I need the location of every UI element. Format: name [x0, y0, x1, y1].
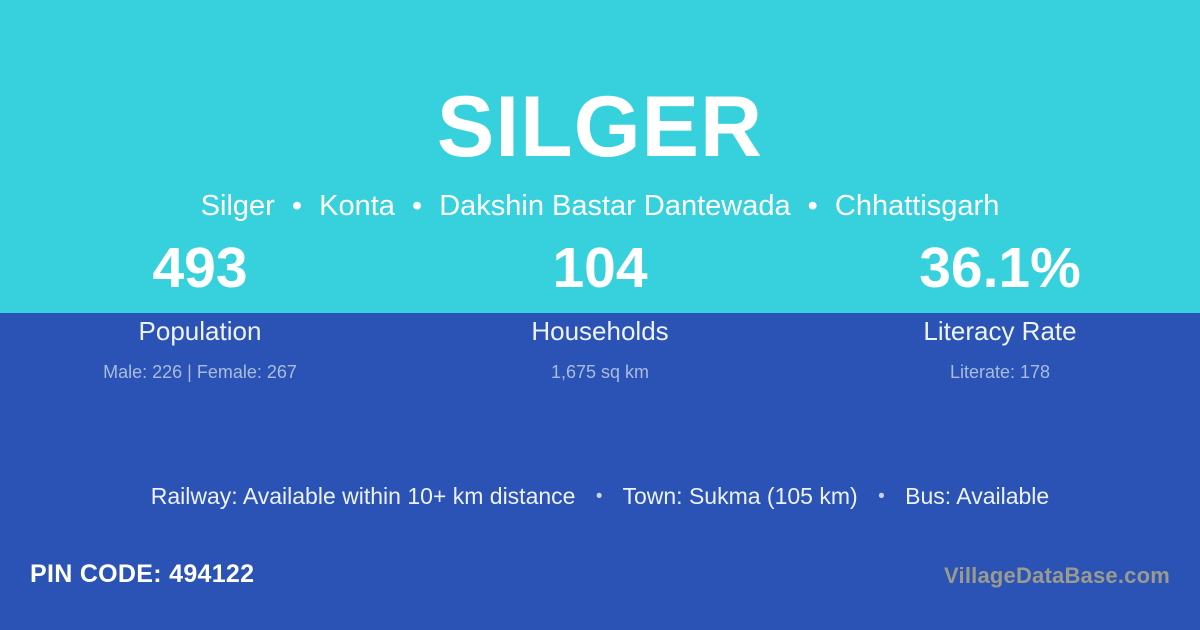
breadcrumb-item-district: Dakshin Bastar Dantewada [439, 190, 790, 222]
facilities-line: Railway: Available within 10+ km distanc… [0, 485, 1200, 508]
stat-sub-literate: Literate: 178 [800, 344, 1200, 381]
stat-population: 493 Population Male: 226 | Female: 267 [0, 240, 400, 381]
stat-value-households: 104 [400, 240, 800, 298]
stat-label-literacy-rate: Literacy Rate [800, 298, 1200, 344]
breadcrumb-separator: • [403, 190, 431, 222]
breadcrumb-item-village: Silger [201, 190, 275, 222]
breadcrumb-separator: • [799, 190, 827, 222]
facility-bus: Bus: Available [905, 483, 1049, 509]
page-title: SILGER [0, 0, 1200, 170]
stat-label-population: Population [0, 298, 400, 344]
footer: PIN CODE: 494122 VillageDataBase.com [0, 544, 1200, 630]
facility-separator: • [582, 486, 617, 507]
site-brand: VillageDataBase.com [944, 565, 1170, 587]
header: SILGER Silger • Konta • Dakshin Bastar D… [0, 0, 1200, 221]
breadcrumb: Silger • Konta • Dakshin Bastar Dantewad… [0, 170, 1200, 221]
breadcrumb-item-state: Chhattisgarh [835, 190, 999, 222]
pin-code: PIN CODE: 494122 [30, 562, 254, 587]
stat-literacy-rate: 36.1% Literacy Rate Literate: 178 [800, 240, 1200, 381]
stat-households: 104 Households 1,675 sq km [400, 240, 800, 381]
stat-value-literacy-rate: 36.1% [800, 240, 1200, 298]
stat-value-population: 493 [0, 240, 400, 298]
breadcrumb-item-block: Konta [319, 190, 395, 222]
breadcrumb-separator: • [283, 190, 311, 222]
facility-separator: • [864, 486, 899, 507]
facility-railway: Railway: Available within 10+ km distanc… [151, 483, 576, 509]
stat-label-households: Households [400, 298, 800, 344]
facility-town: Town: Sukma (105 km) [622, 483, 857, 509]
stat-sub-area: 1,675 sq km [400, 344, 800, 381]
stats-row: 493 Population Male: 226 | Female: 267 1… [0, 240, 1200, 381]
village-info-card: SILGER Silger • Konta • Dakshin Bastar D… [0, 0, 1200, 630]
stat-sub-population: Male: 226 | Female: 267 [0, 344, 400, 381]
